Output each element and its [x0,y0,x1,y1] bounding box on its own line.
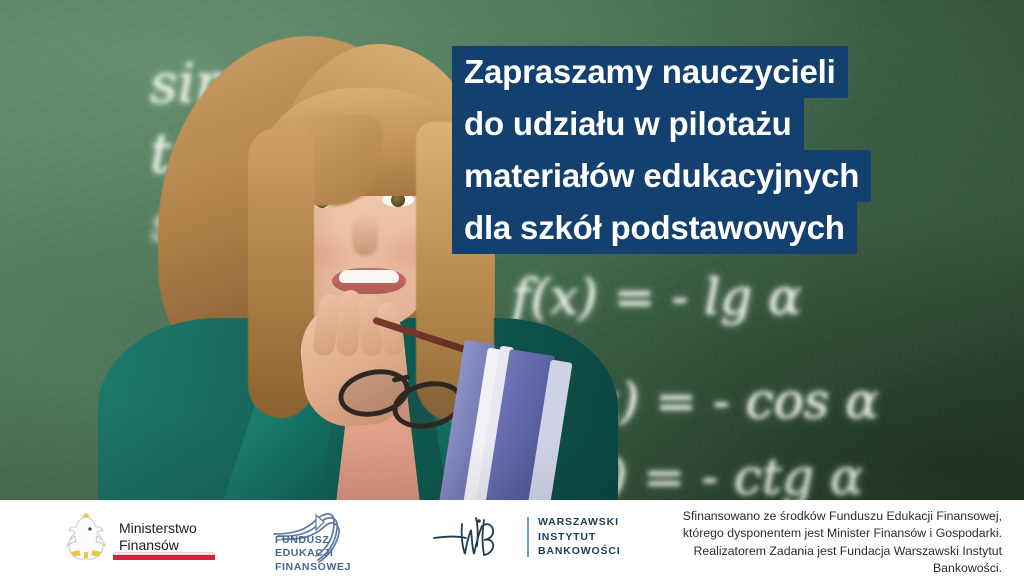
fef-name-line-1: FUNDUSZ [275,534,351,547]
promotional-banner: sin tg sin f(x) = - lg α g(x) = - cos α … [0,0,1024,576]
footer-bar: Ministerstwo Finansów FUNDUSZ EDUKACJI F [0,500,1024,576]
wib-name-line-1: WARSZAWSKI [538,515,621,530]
headline-line-2: do udziału w pilotażu [452,98,804,150]
polish-flag-bar [113,552,215,560]
headline-block: Zapraszamy nauczycieli do udziału w pilo… [452,46,871,254]
headline-line-1: Zapraszamy nauczycieli [452,46,848,98]
wib-monogram-icon [432,514,518,560]
fef-name-line-3: FINANSOWEJ [275,561,351,574]
financing-note: Sfinansowano ze środków Funduszu Edukacj… [672,508,1002,576]
logo-warszawski-instytut-bankowosci: WARSZAWSKI INSTYTUT BANKOWOŚCI [432,514,621,560]
wib-name: WARSZAWSKI INSTYTUT BANKOWOŚCI [538,515,621,560]
wib-name-line-3: BANKOWOŚCI [538,544,621,559]
wib-name-line-2: INSTYTUT [538,530,621,545]
headline-line-3: materiałów edukacyjnych [452,150,871,202]
headline-line-4: dla szkół podstawowych [452,202,857,254]
fef-name-line-2: EDUKACJI [275,547,351,560]
fef-name: FUNDUSZ EDUKACJI FINANSOWEJ [275,534,351,574]
logo-fundusz-edukacji-finansowej: FUNDUSZ EDUKACJI FINANSOWEJ [272,510,388,568]
flag-stripe-red [113,555,215,560]
polish-eagle-icon [63,512,109,562]
logo-divider [527,517,529,557]
ministry-name: Ministerstwo Finansów [119,520,197,555]
ministry-name-line-1: Ministerstwo [119,520,197,538]
